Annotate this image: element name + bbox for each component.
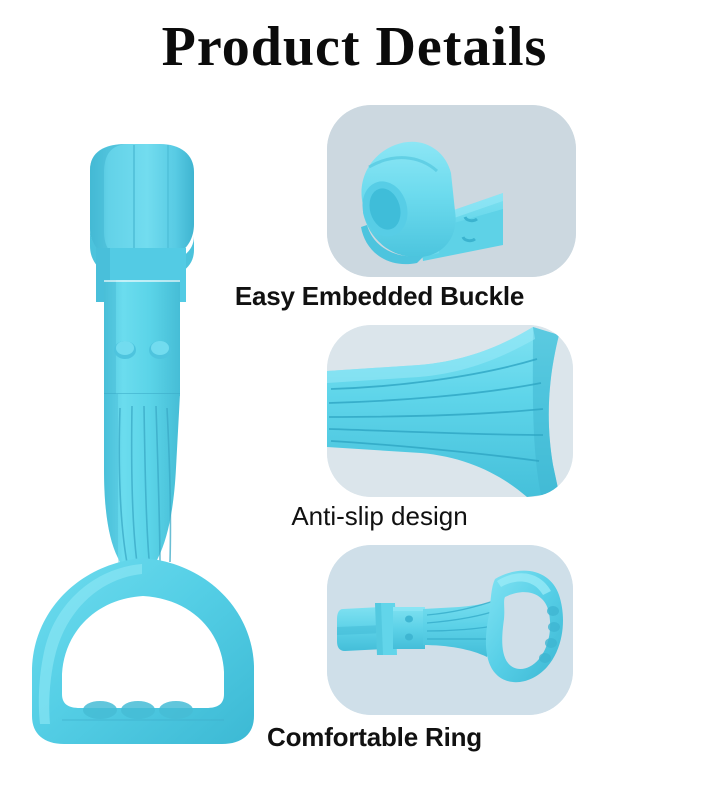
strap-stud-section bbox=[393, 607, 425, 649]
detail-panel-buckle bbox=[327, 105, 576, 277]
snap-stud-icon bbox=[149, 341, 171, 359]
page-title: Product Details bbox=[0, 18, 709, 77]
main-product-photo bbox=[8, 128, 288, 758]
caption-easy-embedded-buckle: Easy Embedded Buckle bbox=[0, 281, 709, 312]
snap-stud-icon bbox=[114, 341, 136, 359]
product-details-page: Product Details bbox=[0, 0, 709, 808]
finger-grip-bumps bbox=[83, 701, 193, 719]
detail-panel-antislip bbox=[327, 325, 573, 497]
caption-anti-slip-design: Anti-slip design bbox=[0, 501, 709, 532]
buckle-block-shape bbox=[337, 603, 397, 655]
caption-comfortable-ring: Comfortable Ring bbox=[0, 722, 709, 753]
detail-panel-ring bbox=[327, 545, 573, 715]
